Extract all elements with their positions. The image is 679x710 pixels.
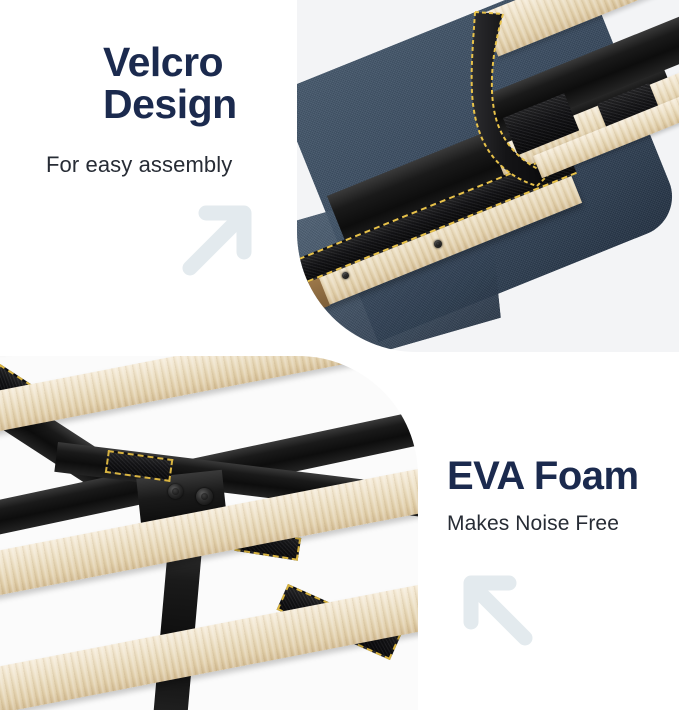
wood-slat-3 [0,575,418,710]
eva-foam-photo-panel [0,356,418,710]
bracket-bolt-2 [196,488,213,505]
bracket-bolt-1 [168,484,183,499]
infographic-canvas: Velcro Design For easy assembly EVA Foam… [0,0,679,710]
eva-feature-subtitle: Makes Noise Free [447,512,619,536]
rail-screw-2 [342,272,349,279]
velcro-feature-subtitle: For easy assembly [46,152,232,178]
rail-screw-1 [434,240,442,248]
arrow-up-left-icon [455,568,537,650]
velcro-feature-title: Velcro Design [103,42,237,126]
arrow-up-right-icon [178,198,260,280]
eva-feature-title: EVA Foam [447,456,639,497]
velcro-photo-panel [297,0,679,352]
